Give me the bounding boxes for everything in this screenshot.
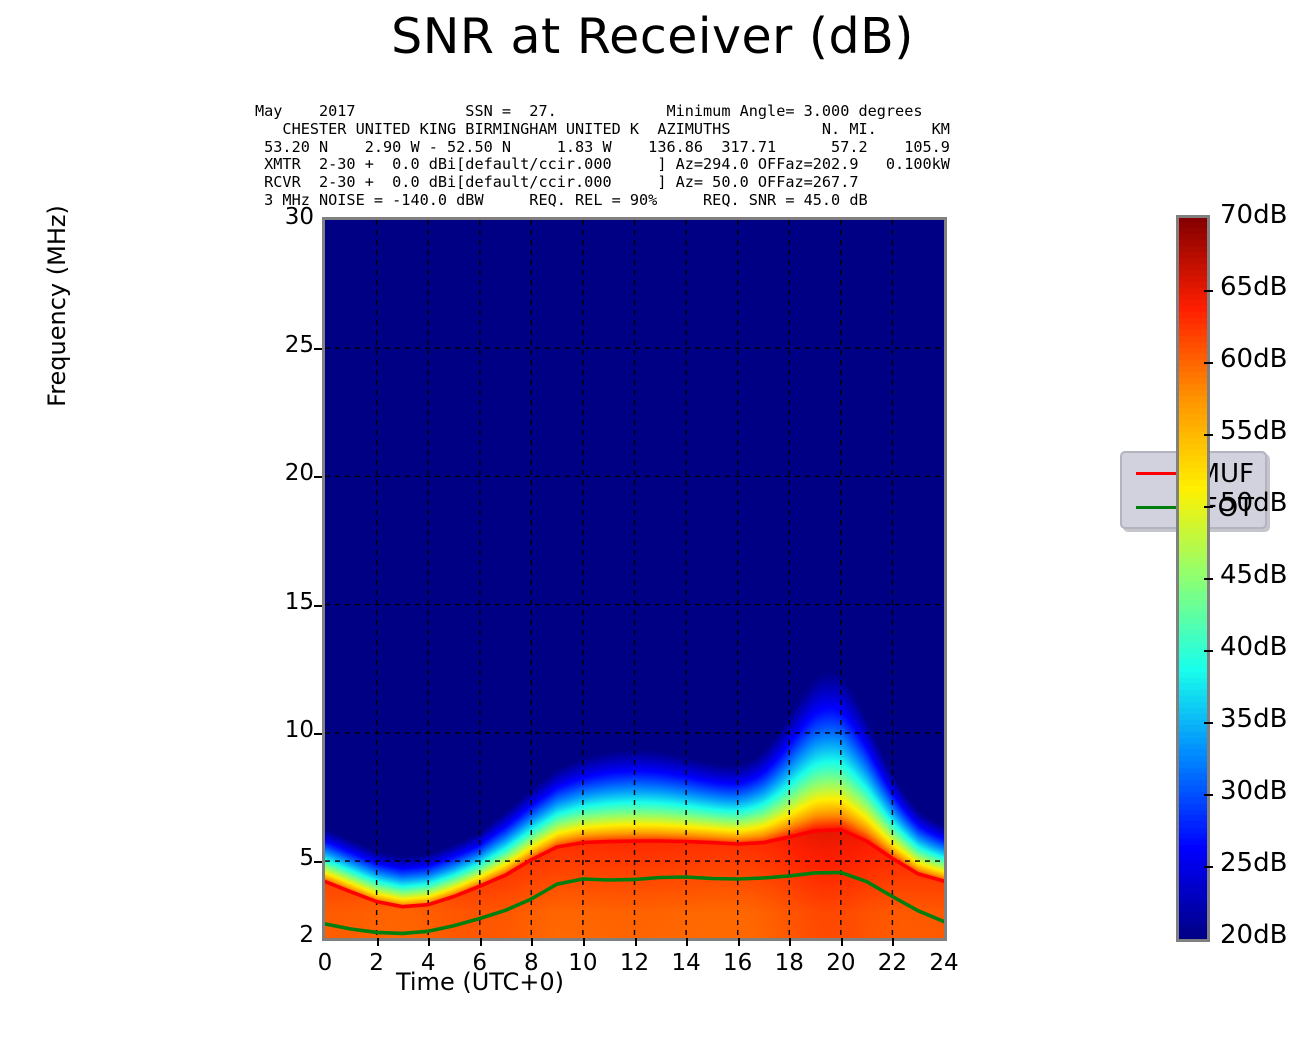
x-tick-mark-12 [635,938,637,946]
y-tick-label-2: 2 [254,922,314,948]
colorbar-tick-45 [1204,578,1213,580]
colorbar-label-60: 60dB [1220,344,1287,374]
colorbar-label-20: 20dB [1220,920,1287,950]
y-tick-mark-15 [314,605,322,607]
colorbar-tick-60 [1204,362,1213,364]
colorbar-label-30: 30dB [1220,776,1287,806]
colorbar-label-65: 65dB [1220,272,1287,302]
x-tick-mark-8 [531,938,533,946]
colorbar-label-55: 55dB [1220,416,1287,446]
x-tick-mark-18 [789,938,791,946]
x-tick-mark-22 [892,938,894,946]
parameter-line-1: May 2017 SSN = 27. Minimum Angle= 3.000 … [255,103,1015,121]
colorbar-tick-65 [1204,290,1213,292]
colorbar-label-70: 70dB [1220,200,1287,230]
parameter-line-3: 53.20 N 2.90 W - 52.50 N 1.83 W 136.86 3… [255,139,1015,157]
colorbar-tick-35 [1204,722,1213,724]
colorbar-tick-25 [1204,866,1213,868]
y-tick-label-10: 10 [254,717,314,743]
y-axis-label: Frequency (MHz) [43,166,71,446]
colorbar-label-35: 35dB [1220,704,1287,734]
x-tick-mark-6 [480,938,482,946]
colorbar-tick-55 [1204,434,1213,436]
y-tick-label-30: 30 [254,204,314,230]
parameter-line-6: 3 MHz NOISE = -140.0 dBW REQ. REL = 90% … [255,192,1015,210]
simulation-parameters-block: May 2017 SSN = 27. Minimum Angle= 3.000 … [255,103,1015,210]
y-tick-mark-5 [314,861,322,863]
x-tick-mark-10 [583,938,585,946]
x-tick-mark-4 [428,938,430,946]
x-tick-mark-14 [686,938,688,946]
colorbar-label-40: 40dB [1220,632,1287,662]
y-tick-mark-25 [314,348,322,350]
y-axis-ticks: 251015202530 [248,217,314,941]
x-tick-mark-2 [377,938,379,946]
colorbar-tick-30 [1204,794,1213,796]
snr-heatmap-plot: MUFFOT [322,217,947,941]
x-axis-label: Time (UTC+0) [0,968,1305,996]
y-tick-label-20: 20 [254,460,314,486]
muf-fot-curves [325,220,944,938]
y-tick-label-15: 15 [254,589,314,615]
x-tick-mark-20 [841,938,843,946]
y-tick-mark-10 [314,733,322,735]
colorbar-tick-50 [1204,506,1213,508]
colorbar-label-45: 45dB [1220,560,1287,590]
y-tick-label-5: 5 [254,845,314,871]
x-tick-mark-16 [738,938,740,946]
parameter-line-5: RCVR 2-30 + 0.0 dBi[default/ccir.000 ] A… [255,174,1015,192]
parameter-line-4: XMTR 2-30 + 0.0 dBi[default/ccir.000 ] A… [255,156,1015,174]
y-tick-label-25: 25 [254,332,314,358]
colorbar-tick-labels: 20dB25dB30dB35dB40dB45dB50dB55dB60dB65dB… [1176,215,1305,942]
y-tick-mark-20 [314,476,322,478]
parameter-line-2: CHESTER UNITED KING BIRMINGHAM UNITED K … [255,121,1015,139]
colorbar-tick-40 [1204,650,1213,652]
colorbar-label-50: 50dB [1220,488,1287,518]
page-title: SNR at Receiver (dB) [0,8,1305,65]
x-axis-label-text: Time (UTC+0) [396,968,564,996]
colorbar-label-25: 25dB [1220,848,1287,878]
